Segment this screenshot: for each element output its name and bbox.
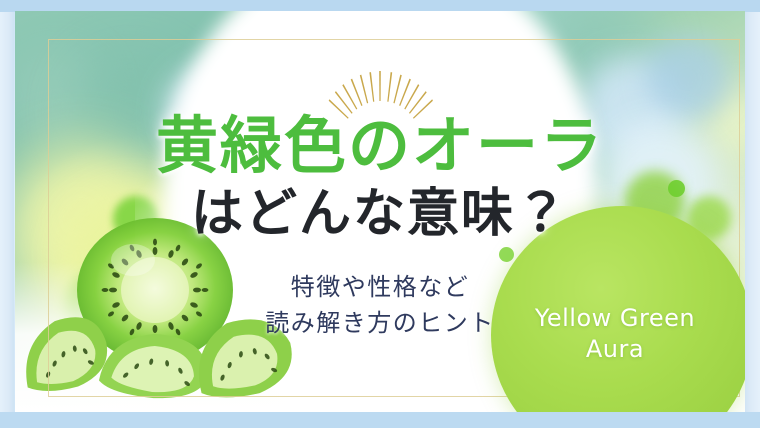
subtitle-line-2: 読み解き方のヒント bbox=[15, 305, 745, 341]
frame-band-bottom bbox=[0, 412, 760, 428]
frame-band-left bbox=[0, 0, 14, 428]
bokeh-circle bbox=[645, 36, 730, 121]
title-line-1: 黄緑色のオーラ bbox=[15, 115, 745, 179]
subtitle-line-1: 特徴や性格など bbox=[15, 269, 745, 305]
banner-root: Yellow Green Aura 黄緑色のオーラ はどんな意味？ 特徴や性格な… bbox=[0, 0, 760, 428]
artwork-plate: Yellow Green Aura 黄緑色のオーラ はどんな意味？ 特徴や性格な… bbox=[15, 11, 745, 412]
subtitle-block: 特徴や性格など 読み解き方のヒント bbox=[15, 269, 745, 342]
title-line-2: はどんな意味？ bbox=[15, 187, 745, 242]
frame-band-right bbox=[744, 0, 760, 428]
headline-stack: 黄緑色のオーラ はどんな意味？ 特徴や性格など 読み解き方のヒント bbox=[15, 115, 745, 342]
